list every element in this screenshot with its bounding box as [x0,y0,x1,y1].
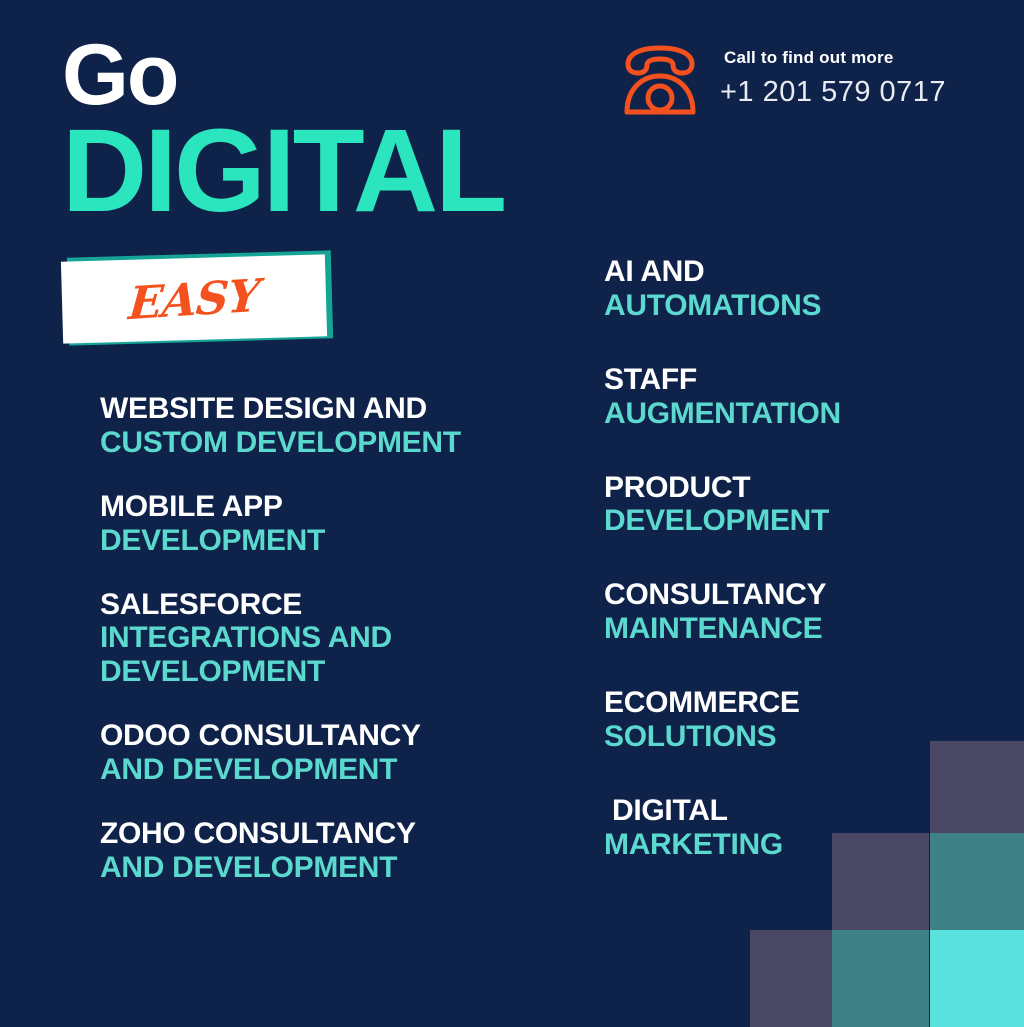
service-subtitle: DEVELOPMENT [604,504,934,538]
headline-line-go: Go [62,36,504,115]
service-subtitle: AND DEVELOPMENT [100,851,570,885]
service-title: ZOHO CONSULTANCY [100,817,570,851]
service-title: ECOMMERCE [604,686,934,720]
services-column-left: WEBSITE DESIGN ANDCUSTOM DEVELOPMENTMOBI… [100,392,570,915]
service-subtitle: AUGMENTATION [604,397,934,431]
headline: Go DIGITAL [62,36,504,223]
service-item[interactable]: CONSULTANCYMAINTENANCE [604,578,934,646]
service-subtitle: CUSTOM DEVELOPMENT [100,426,570,460]
service-title: DIGITAL [604,794,934,828]
service-title: CONSULTANCY [604,578,934,612]
service-subtitle: SOLUTIONS [604,720,934,754]
telephone-icon [618,42,702,120]
service-subtitle: MARKETING [604,828,934,862]
easy-badge: EASY [62,250,330,342]
service-item[interactable]: SALESFORCEINTEGRATIONS ANDDEVELOPMENT [100,588,570,690]
headline-line-digital: DIGITAL [62,121,504,222]
service-title: ODOO CONSULTANCY [100,719,570,753]
service-subtitle: INTEGRATIONS AND [100,621,570,655]
contact-label: Call to find out more [724,48,946,68]
service-title: SALESFORCE [100,588,570,622]
service-subtitle: MAINTENANCE [604,612,934,646]
service-item[interactable]: DIGITALMARKETING [604,794,934,862]
decorative-square [750,930,847,1027]
service-item[interactable]: AI ANDAUTOMATIONS [604,255,934,323]
decorative-square [930,833,1024,930]
easy-badge-text: EASY [127,268,261,329]
service-item[interactable]: PRODUCTDEVELOPMENT [604,471,934,539]
service-subtitle: DEVELOPMENT [100,655,570,689]
service-title: AI AND [604,255,934,289]
service-subtitle: AUTOMATIONS [604,289,934,323]
service-item[interactable]: MOBILE APPDEVELOPMENT [100,490,570,558]
service-title: PRODUCT [604,471,934,505]
service-item[interactable]: ECOMMERCESOLUTIONS [604,686,934,754]
decorative-square [832,930,929,1027]
decorative-square [930,930,1024,1027]
easy-badge-card: EASY [61,254,327,343]
service-item[interactable]: WEBSITE DESIGN ANDCUSTOM DEVELOPMENT [100,392,570,460]
service-subtitle: AND DEVELOPMENT [100,753,570,787]
service-item[interactable]: ODOO CONSULTANCYAND DEVELOPMENT [100,719,570,787]
contact-block[interactable]: Call to find out more +1 201 579 0717 [618,40,946,120]
service-title: MOBILE APP [100,490,570,524]
decorative-square [930,741,1024,838]
services-column-right: AI ANDAUTOMATIONSSTAFFAUGMENTATIONPRODUC… [604,255,934,902]
service-subtitle: DEVELOPMENT [100,524,570,558]
service-item[interactable]: STAFFAUGMENTATION [604,363,934,431]
service-title: STAFF [604,363,934,397]
service-item[interactable]: ZOHO CONSULTANCYAND DEVELOPMENT [100,817,570,885]
service-title: WEBSITE DESIGN AND [100,392,570,426]
contact-phone-number[interactable]: +1 201 579 0717 [720,76,946,109]
